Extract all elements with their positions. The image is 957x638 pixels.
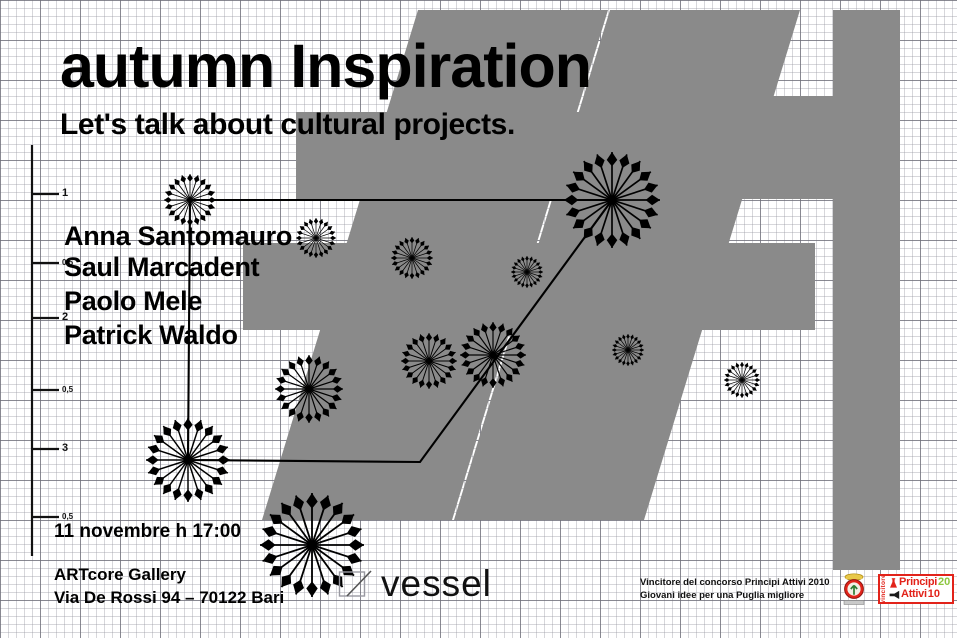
poster-canvas: autumn Inspiration Let's talk about cult… <box>0 0 957 638</box>
starburst-icon <box>275 355 343 423</box>
vessel-logo: vessel <box>338 565 492 602</box>
axis-tick-label: 2 <box>62 311 68 323</box>
vessel-wordmark: vessel <box>381 565 492 602</box>
axis-tick-label: 3 <box>62 442 68 454</box>
axis-tick-label: 0,5 <box>62 385 73 394</box>
event-datetime: 11 novembre h 17:00 <box>54 521 241 543</box>
y-axis <box>32 145 59 556</box>
sponsor-block: Vincitore del concorso Principi Attivi 2… <box>640 572 954 606</box>
speaker-name: Anna Santomauro <box>64 221 292 252</box>
megaphone-icon <box>889 590 900 600</box>
principi-attivi-logo: vincitore Principi 20 Attivi 10 <box>878 574 955 604</box>
flask-icon <box>889 578 898 589</box>
page-subtitle: Let's talk about cultural projects. <box>60 108 515 142</box>
axis-tick-label: 0,5 <box>62 512 73 521</box>
venue-address: Via De Rossi 94 – 70122 Bari <box>54 588 284 608</box>
pa-row-2: Attivi 10 <box>889 589 950 601</box>
regione-puglia-emblem <box>839 572 869 606</box>
speaker-name: Patrick Waldo <box>64 320 238 351</box>
axis-tick-label: 1 <box>62 187 68 199</box>
pa-wordblock: Principi 20 Attivi 10 <box>889 577 950 600</box>
page-title: autumn Inspiration <box>60 36 591 97</box>
pa-word-2: Attivi <box>901 589 927 601</box>
speaker-name: Paolo Mele <box>64 286 202 317</box>
starburst-icon <box>401 333 457 389</box>
starburst-icon <box>612 334 644 366</box>
pa-vincitore-label: vincitore <box>881 574 888 604</box>
starburst-icon <box>146 418 230 502</box>
starburst-icon <box>564 152 660 248</box>
pa-num-2: 10 <box>928 589 940 601</box>
starburst-icon <box>296 218 336 258</box>
starburst-icon <box>391 237 433 279</box>
axis-tick-label: 0,5 <box>62 258 73 267</box>
sponsor-line-2: Giovani idee per una Puglia migliore <box>640 589 830 602</box>
starburst-icon <box>724 362 760 398</box>
starburst-icon <box>511 256 543 288</box>
venue-name: ARTcore Gallery <box>54 565 186 585</box>
starburst-icon <box>164 174 216 226</box>
speaker-name: Saul Marcadent <box>64 252 259 283</box>
square-slash-icon <box>338 569 372 599</box>
sponsor-caption: Vincitore del concorso Principi Attivi 2… <box>640 576 830 602</box>
sponsor-line-1: Vincitore del concorso Principi Attivi 2… <box>640 576 830 589</box>
